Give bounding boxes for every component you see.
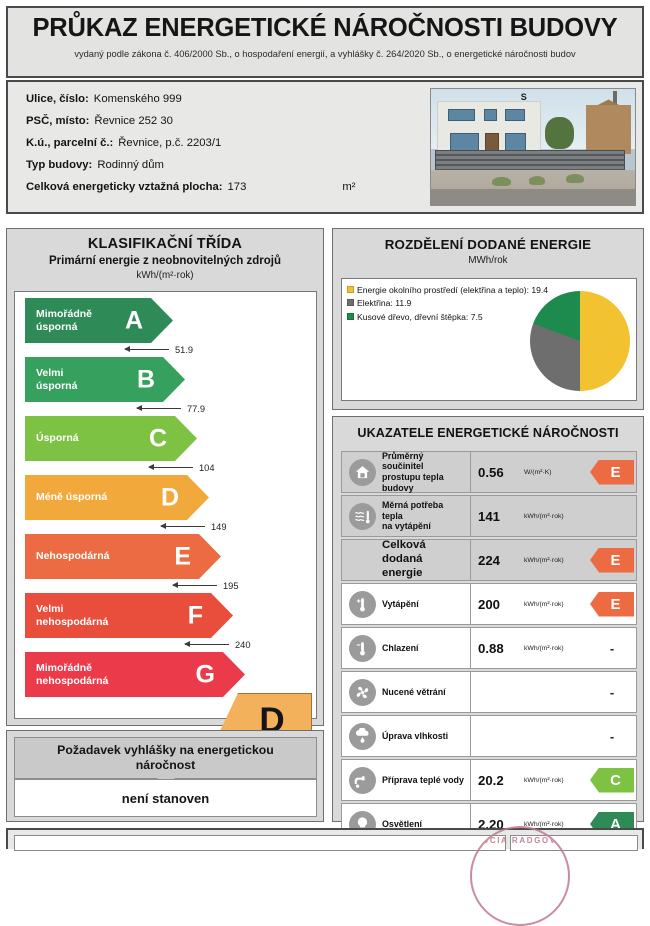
indicator-label: Úprava vlhkosti [382,731,470,742]
north-arrow-icon: S [521,92,527,102]
photo-window [505,133,525,151]
chart-legend: Energie okolního prostředí (elektřina a … [347,285,562,325]
identification-label: K.ú., parcelní č.: [26,137,113,149]
photo-road [431,189,635,205]
energy-band-label: Nehospodárná [36,550,110,562]
heating-icon [349,591,376,618]
identification-row: K.ú., parcelní č.:Řevnice, p.č. 2203/1 [26,137,436,149]
page-title: PRŮKAZ ENERGETICKÉ NÁROČNOSTI BUDOVY [8,14,642,43]
indicator-unit: kWh/(m²·rok) [524,645,588,652]
indicator-icon-cell [342,591,382,618]
energy-split-units: MWh/rok [333,255,643,266]
indicator-unit: W/(m²·K) [524,469,588,476]
indicator-row: Nucené větrání- [341,671,637,713]
indicator-unit: kWh/(m²·rok) [524,601,588,608]
status-badge: E [590,592,634,617]
requirement-panel: Požadavek vyhlášky na energetickou nároč… [6,730,324,822]
classification-subtitle: Primární energie z neobnovitelných zdroj… [7,255,323,267]
certifier-stamp: LUCIA RADGOVÁ [470,826,570,926]
energy-split-chart-area: Energie okolního prostředí (elektřina a … [341,278,637,401]
photo-bush [492,177,510,186]
indicator-icon-cell [342,679,382,706]
indicator-unit: kWh/(m²·rok) [524,557,588,564]
energy-band-body: Mimořádně nehospodárnáG [25,652,245,697]
boundary-arrow-icon [137,408,181,409]
building-photo: S [430,88,636,206]
energy-band-e: NehospodárnáE [25,534,221,579]
boundary-arrow-icon [173,585,217,586]
boundary-arrow-icon [161,526,205,527]
indicator-class-cell: - [588,641,636,656]
indicator-icon-cell [342,503,382,530]
indicator-class-cell: C [588,768,636,793]
legend-swatch [347,286,354,293]
energy-band-d: Méně úspornáD [25,475,209,520]
photo-window [448,109,474,121]
energy-band-body: Velmi úspornáB [25,357,185,402]
indicator-value: 224 [471,553,524,568]
photo-window [484,109,497,121]
certifier-stamp-text: LUCIA RADGOVÁ [472,836,568,845]
photo-main-house [437,101,541,155]
indicator-class-cell: - [588,729,636,744]
requirement-heading: Požadavek vyhlášky na energetickou nároč… [14,737,317,779]
energy-band-label: Méně úsporná [36,491,107,503]
boundary-value: 240 [235,640,251,650]
indicator-row: Příprava teplé vody20.2kWh/(m²·rok)C [341,759,637,801]
indicator-class-none: - [610,641,614,656]
indicator-row: Vytápění200kWh/(m²·rok)E [341,583,637,625]
energy-band-f: Velmi nehospodárnáF [25,593,233,638]
pie-chart [530,291,630,391]
energy-band-label: Mimořádně úsporná [36,308,92,332]
energy-band-boundary: 149 [161,521,227,532]
energy-band-letter: C [149,426,167,451]
indicator-class-cell: E [588,460,636,485]
identification-value: Rodinný dům [97,159,164,171]
indicator-icon-cell [342,635,382,662]
photo-door [485,133,499,151]
energy-band-letter: B [137,367,155,392]
energy-band-label: Mimořádně nehospodárná [36,662,108,686]
boundary-value: 77.9 [187,404,205,414]
identification-unit: m² [342,181,355,193]
hot-water-icon [349,767,376,794]
classification-units: kWh/(m²·rok) [7,270,323,281]
photo-window [450,133,479,151]
requirement-result: není stanoven [14,779,317,817]
energy-band-boundary: 195 [173,580,239,591]
energy-band-label: Velmi úsporná [36,367,77,391]
document-subtitle: vydaný podle zákona č. 406/2000 Sb., o h… [8,49,642,59]
energy-band-a: Mimořádně úspornáA [25,298,173,343]
indicator-divider [470,716,471,756]
indicator-class-cell: - [588,685,636,700]
identification-label: Celková energeticky vztažná plocha: [26,181,223,193]
identification-value: Řevnice 252 30 [94,115,173,127]
identification-row: Celková energeticky vztažná plocha:173m² [26,181,436,193]
ventilation-icon [349,679,376,706]
boundary-arrow-icon [149,467,193,468]
indicator-row: Průměrný součinitel prostupu tepla budov… [341,451,637,493]
legend-item: Energie okolního prostředí (elektřina a … [347,285,562,295]
legend-item: Kusové dřevo, dřevní štěpka: 7.5 [347,312,562,322]
energy-split-title: ROZDĚLENÍ DODANÉ ENERGIE [333,237,643,252]
status-badge: E [590,548,634,573]
energy-band-body: Velmi nehospodárnáF [25,593,233,638]
status-badge: E [590,460,634,485]
indicator-row: Chlazení0.88kWh/(m²·rok)- [341,627,637,669]
energy-band-body: NehospodárnáE [25,534,221,579]
boundary-value: 104 [199,463,215,473]
energy-band-body: Mimořádně úspornáA [25,298,173,343]
boundary-value: 149 [211,522,227,532]
indicator-label: Chlazení [382,643,470,654]
legend-swatch [347,299,354,306]
legend-label: Elektřina: 11.9 [357,298,411,308]
indicator-icon-cell [342,723,382,750]
boundary-arrow-icon [125,349,169,350]
energy-band-letter: G [196,662,215,687]
boundary-arrow-icon [185,644,229,645]
indicator-class-cell: E [588,548,636,573]
document-header: PRŮKAZ ENERGETICKÉ NÁROČNOSTI BUDOVY vyd… [6,6,644,78]
identification-value: 173 [228,181,247,193]
indicator-label: Vytápění [382,599,470,610]
energy-split-panel: ROZDĚLENÍ DODANÉ ENERGIE MWh/rok Energie… [332,228,644,410]
energy-scale: Mimořádně úspornáA51.9Velmi úspornáB77.9… [14,291,317,719]
indicator-class-none: - [610,729,614,744]
status-badge: C [590,768,634,793]
energy-band-g: Mimořádně nehospodárnáG [25,652,245,697]
legend-label: Kusové dřevo, dřevní štěpka: 7.5 [357,312,483,322]
indicators-panel: UKAZATELE ENERGETICKÉ NÁROČNOSTI Průměrn… [332,416,644,822]
cooling-icon [349,635,376,662]
photo-bush [566,174,584,183]
identification-list: Ulice, číslo:Komenského 999PSČ, místo:Ře… [26,93,436,203]
photo-fence [435,150,625,172]
indicator-class-cell: E [588,592,636,617]
indicator-label: Měrná potřeba tepla na vytápění [382,500,470,532]
legend-label: Energie okolního prostředí (elektřina a … [357,285,548,295]
photo-window [505,109,524,121]
energy-band-label: Velmi nehospodárná [36,603,108,627]
energy-band-boundary: 240 [185,639,251,650]
legend-swatch [347,313,354,320]
energy-band-letter: E [174,544,191,569]
indicator-unit: kWh/(m²·rok) [524,513,588,520]
indicator-row: Měrná potřeba tepla na vytápění141kWh/(m… [341,495,637,537]
energy-band-boundary: 51.9 [125,344,193,355]
energy-band-letter: F [188,603,203,628]
indicator-row: Úprava vlhkosti- [341,715,637,757]
indicator-value: 20.2 [471,773,524,788]
energy-band-letter: A [125,308,143,333]
indicator-label: Nucené větrání [382,687,470,698]
classification-title: KLASIFIKAČNÍ TŘÍDA [7,236,323,252]
identification-row: PSČ, místo:Řevnice 252 30 [26,115,436,127]
indicator-class-none: - [610,685,614,700]
energy-band-b: Velmi úspornáB [25,357,185,402]
energy-band-c: ÚspornáC [25,416,197,461]
energy-band-label: Úsporná [36,432,79,444]
identification-row: Ulice, číslo:Komenského 999 [26,93,436,105]
energy-band-boundary: 77.9 [137,403,205,414]
boundary-value: 195 [223,581,239,591]
photo-bush [529,176,545,185]
energy-band-body: ÚspornáC [25,416,197,461]
identification-row: Typ budovy:Rodinný dům [26,159,436,171]
heat-loss-icon [349,503,376,530]
energy-band-boundary: 104 [149,462,215,473]
identification-value: Řevnice, p.č. 2203/1 [118,137,221,149]
classification-panel: KLASIFIKAČNÍ TŘÍDA Primární energie z ne… [6,228,324,726]
indicator-value: 200 [471,597,524,612]
energy-band-body: Méně úspornáD [25,475,209,520]
indicator-icon-cell [342,459,382,486]
house-icon [349,459,376,486]
indicator-row: Celková dodaná energie224kWh/(m²·rok)E [341,539,637,581]
boundary-value: 51.9 [175,345,193,355]
legend-item: Elektřina: 11.9 [347,298,562,308]
photo-tree [545,117,574,149]
indicator-unit: kWh/(m²·rok) [524,821,588,828]
building-identification-panel: Ulice, číslo:Komenského 999PSČ, místo:Ře… [6,80,644,214]
indicator-unit: kWh/(m²·rok) [524,777,588,784]
indicator-value: 0.88 [471,641,524,656]
indicators-table: Průměrný součinitel prostupu tepla budov… [341,451,637,847]
indicator-divider [470,672,471,712]
indicator-label: Celková dodaná energie [382,539,470,580]
indicator-value: 141 [471,509,524,524]
identification-label: PSČ, místo: [26,115,89,127]
indicator-value: 0.56 [471,465,524,480]
identification-label: Typ budovy: [26,159,92,171]
indicator-icon-cell [342,767,382,794]
humidity-icon [349,723,376,750]
indicator-label: Příprava teplé vody [382,775,470,786]
indicator-label: Průměrný součinitel prostupu tepla budov… [382,451,470,494]
identification-value: Komenského 999 [94,93,182,105]
photo-neighbour-house [586,105,631,154]
identification-label: Ulice, číslo: [26,93,89,105]
energy-band-letter: D [161,485,179,510]
indicators-title: UKAZATELE ENERGETICKÉ NÁROČNOSTI [333,426,643,440]
